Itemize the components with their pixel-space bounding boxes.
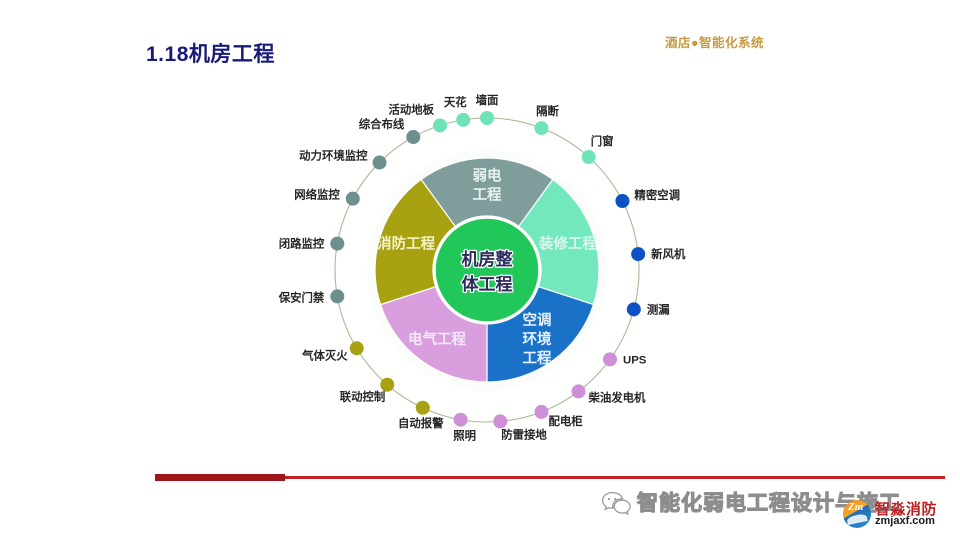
logo[interactable]: Zm 智淼消防 zmjaxf.com <box>843 498 958 536</box>
ring-node-dot-7[interactable] <box>571 384 585 398</box>
ring-node-dot-16[interactable] <box>346 192 360 206</box>
ring-node-dot-15[interactable] <box>330 237 344 251</box>
ring-node-dot-19[interactable] <box>433 118 447 132</box>
ring-node-label-10: 照明 <box>453 429 476 443</box>
ring-node-label-0: 墙面 <box>476 93 499 107</box>
ring-node-dot-10[interactable] <box>454 413 468 427</box>
ring-node-label-1: 隔断 <box>536 104 559 118</box>
segment-label-4: 工程 <box>473 187 502 204</box>
ring-node-dot-17[interactable] <box>373 156 387 170</box>
ring-node-label-8: 配电柜 <box>548 414 583 428</box>
ring-node-label-20: 天花 <box>444 95 467 109</box>
ring-node-dot-9[interactable] <box>493 414 507 428</box>
segment-label-1: 环境 <box>522 330 551 348</box>
ring-node-dot-13[interactable] <box>350 341 364 355</box>
ring-node-dot-14[interactable] <box>330 289 344 303</box>
segment-label-2: 电气工程 <box>408 330 466 348</box>
ring-node-label-5: 测漏 <box>647 302 670 316</box>
logo-zm-text: Zm <box>848 501 863 513</box>
ring-node-label-18: 综合布线 <box>359 117 405 131</box>
ring-node-dot-20[interactable] <box>456 113 470 127</box>
ring-node-label-4: 新风机 <box>651 247 686 261</box>
ring-node-label-11: 自动报警 <box>398 416 444 430</box>
ring-node-dot-18[interactable] <box>406 130 420 144</box>
ring-node-label-3: 精密空调 <box>634 188 680 202</box>
ring-node-dot-0[interactable] <box>480 111 494 125</box>
ring-node-label-2: 门窗 <box>591 134 614 148</box>
radial-donut-diagram: 装修工程空调环境工程电气工程消防工程弱电工程机房整体工程墙面隔断门窗精密空调新风… <box>255 90 705 460</box>
ring-node-label-9: 防雷接地 <box>501 427 547 441</box>
ring-node-dot-2[interactable] <box>582 150 596 164</box>
ring-node-dot-5[interactable] <box>627 302 641 316</box>
ring-node-label-14: 保安门禁 <box>278 290 325 304</box>
center-label: 机房整 <box>462 249 513 269</box>
ring-node-label-6: UPS <box>623 354 647 366</box>
ring-node-dot-12[interactable] <box>380 378 394 392</box>
ring-node-label-13: 气体灭火 <box>301 348 348 362</box>
footer-rule <box>285 476 945 479</box>
ring-node-dot-6[interactable] <box>603 352 617 366</box>
header-subtitle: 酒店●智能化系统 <box>665 32 764 51</box>
ring-node-label-19: 活动地板 <box>388 102 434 116</box>
segment-label-4: 弱电 <box>473 167 502 185</box>
center-disc[interactable] <box>435 218 539 322</box>
ring-node-label-12: 联动控制 <box>340 390 386 404</box>
ring-node-dot-11[interactable] <box>416 401 430 415</box>
ring-node-label-15: 闭路监控 <box>279 237 325 251</box>
ring-node-label-16: 网络监控 <box>294 188 340 202</box>
segment-label-3: 消防工程 <box>377 235 435 253</box>
diagram-svg: 装修工程空调环境工程电气工程消防工程弱电工程机房整体工程墙面隔断门窗精密空调新风… <box>255 90 705 460</box>
center-label: 体工程 <box>462 274 513 294</box>
ring-node-dot-8[interactable] <box>534 405 548 419</box>
footer-accent-bar <box>155 474 285 481</box>
wechat-icon <box>601 490 633 516</box>
segment-label-1: 空调 <box>522 311 551 329</box>
page-title: 1.18机房工程 <box>146 38 275 68</box>
ring-node-label-17: 动力环境监控 <box>299 149 368 163</box>
ring-node-label-7: 柴油发电机 <box>587 390 646 404</box>
segment-label-1: 工程 <box>522 350 551 367</box>
segment-label-0: 装修工程 <box>538 235 597 253</box>
ring-node-dot-4[interactable] <box>631 247 645 261</box>
logo-website-url: zmjaxf.com <box>875 515 935 527</box>
ring-node-dot-1[interactable] <box>534 121 548 135</box>
slide-canvas: 1.18机房工程 酒店●智能化系统 装修工程空调环境工程电气工程消防工程弱电工程… <box>0 0 960 540</box>
ring-node-dot-3[interactable] <box>615 194 629 208</box>
